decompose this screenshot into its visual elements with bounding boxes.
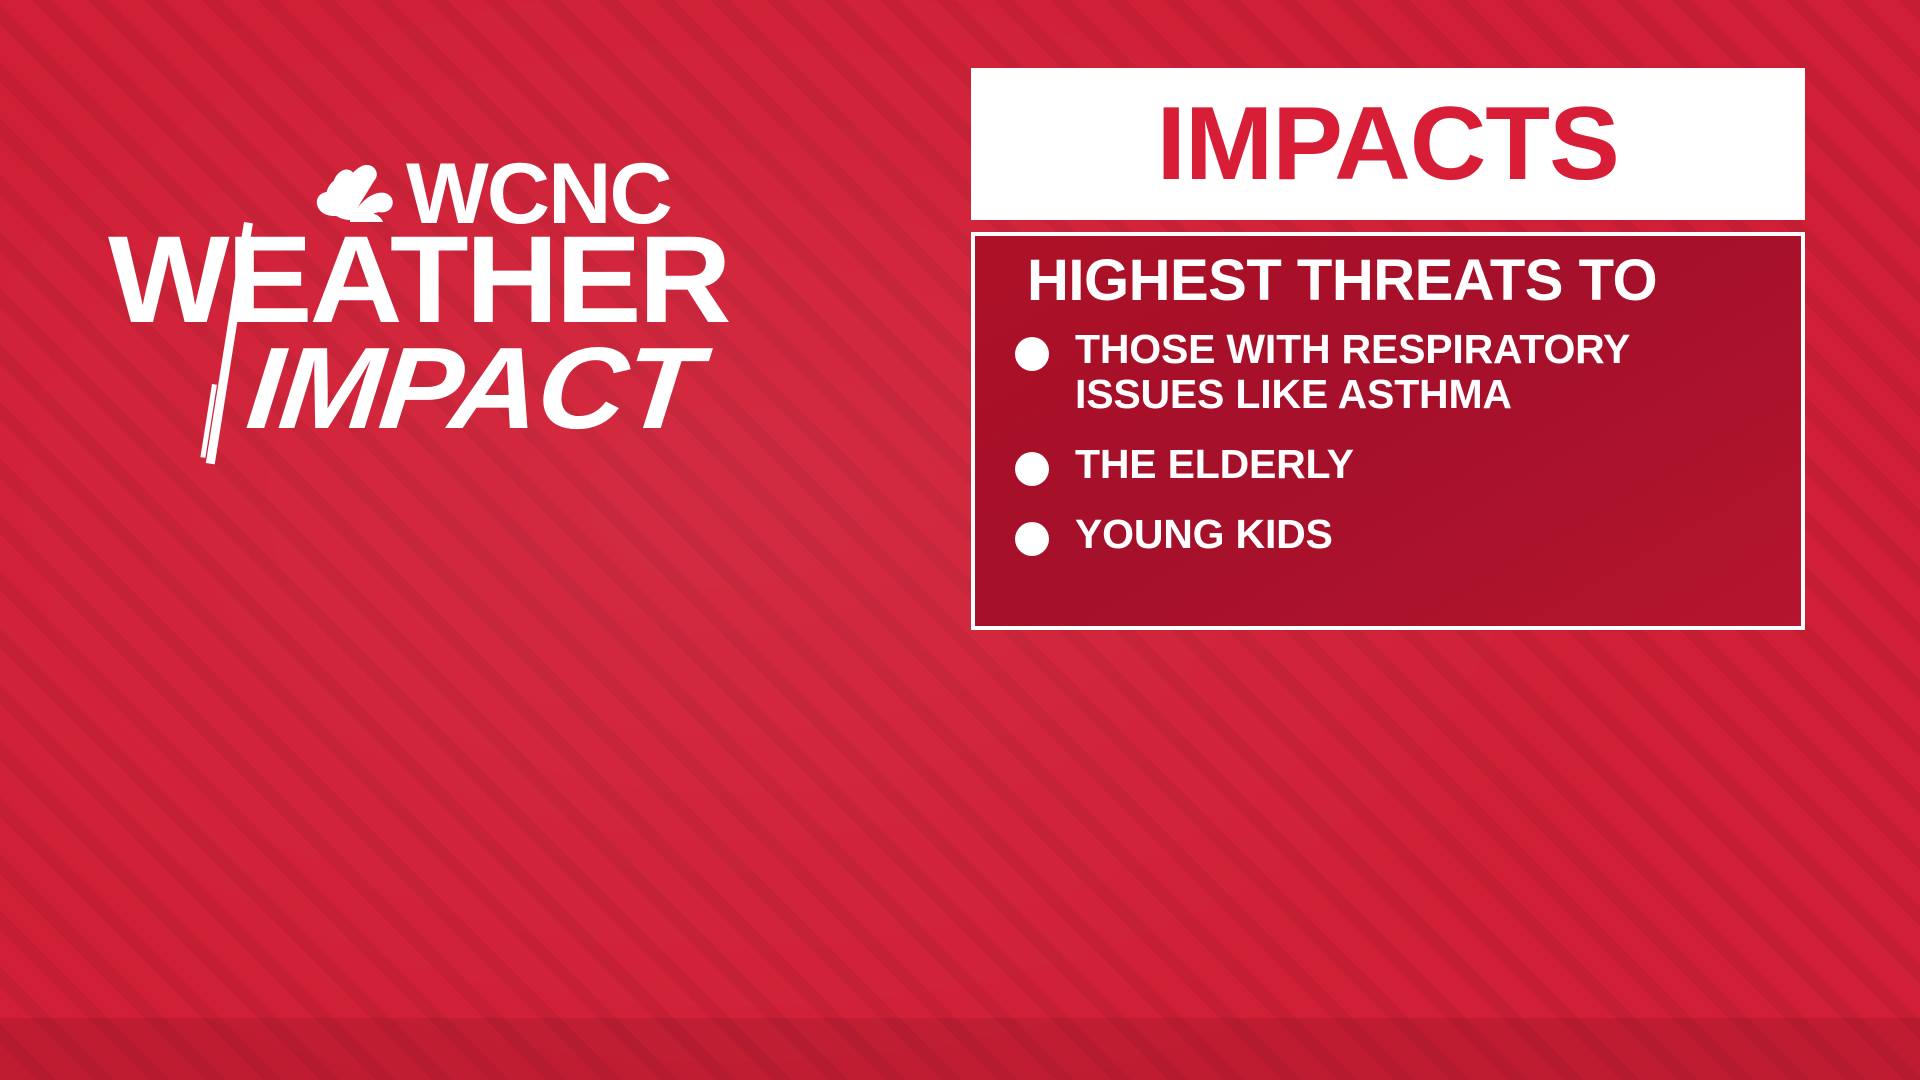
- bottom-shadow-band: [0, 1018, 1920, 1080]
- logo-word-impact: IMPACT: [243, 336, 703, 440]
- list-item: YOUNG KIDS: [1005, 512, 1771, 556]
- logo-word-weather: WEATHER: [108, 226, 729, 335]
- list-item-text: THOSE WITH RESPIRATORY ISSUES LIKE ASTHM…: [1075, 327, 1630, 416]
- broadcast-graphic-slide: WCNC WEATHER IMPACT IMPACTS HIGHEST THRE…: [0, 0, 1920, 1080]
- list-item-text: THE ELDERLY: [1075, 442, 1354, 486]
- panel-subtitle: HIGHEST THREATS TO: [1005, 250, 1771, 311]
- bullet-dot-icon: [1015, 452, 1049, 486]
- list-item-line2: ISSUES LIKE ASTHMA: [1075, 372, 1630, 416]
- list-item: THOSE WITH RESPIRATORY ISSUES LIKE ASTHM…: [1005, 327, 1771, 416]
- station-logo-lockup: WCNC WEATHER IMPACT: [108, 146, 948, 546]
- panel-header-bar: IMPACTS: [971, 68, 1805, 220]
- impacts-panel: IMPACTS HIGHEST THREATS TO THOSE WITH RE…: [971, 68, 1805, 630]
- list-item: THE ELDERLY: [1005, 442, 1771, 486]
- bullet-dot-icon: [1015, 522, 1049, 556]
- list-item-line1: THOSE WITH RESPIRATORY: [1075, 326, 1630, 372]
- panel-title: IMPACTS: [1157, 92, 1619, 196]
- list-item-line1: YOUNG KIDS: [1075, 511, 1333, 557]
- threat-list: THOSE WITH RESPIRATORY ISSUES LIKE ASTHM…: [1005, 327, 1771, 556]
- bullet-dot-icon: [1015, 337, 1049, 371]
- list-item-text: YOUNG KIDS: [1075, 512, 1333, 556]
- list-item-line1: THE ELDERLY: [1075, 441, 1354, 487]
- panel-body: HIGHEST THREATS TO THOSE WITH RESPIRATOR…: [971, 232, 1805, 630]
